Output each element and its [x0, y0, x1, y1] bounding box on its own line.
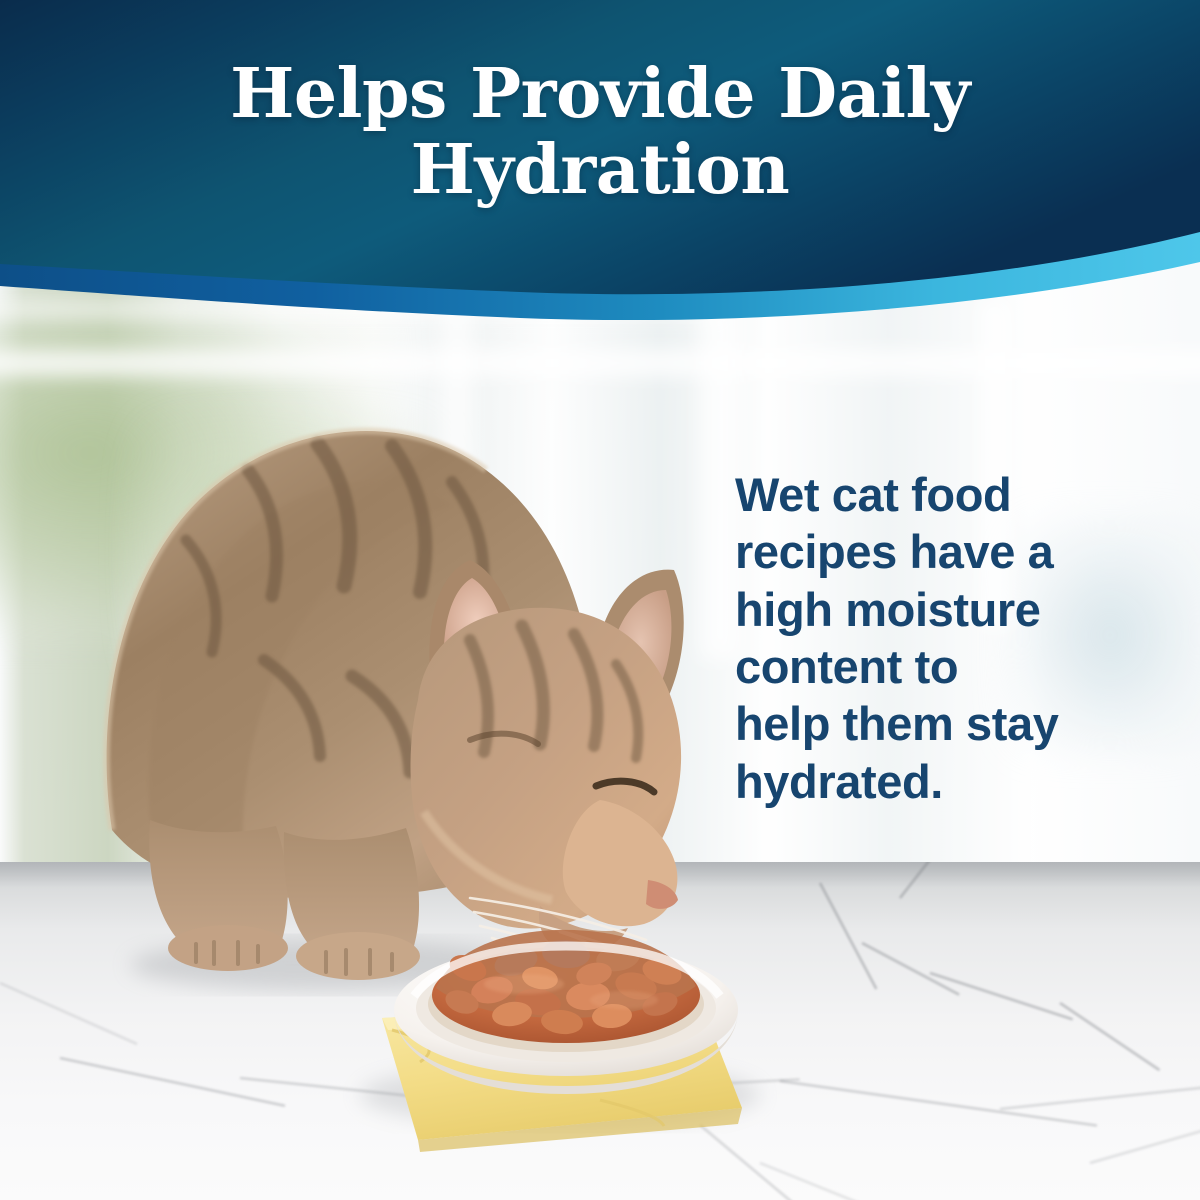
- window-greenery-secondary: [140, 420, 440, 680]
- body-copy: Wet cat food recipes have a high moistur…: [735, 466, 1135, 810]
- page-title-line-2: Hydration: [110, 132, 1090, 208]
- window-frame-bar: [0, 350, 1200, 376]
- body-copy-line: hydrated.: [735, 753, 1135, 810]
- page-title-line-1: Helps Provide Daily: [110, 56, 1090, 132]
- body-copy-line: Wet cat food: [735, 466, 1135, 523]
- page-title: Helps Provide Daily Hydration: [0, 56, 1200, 208]
- body-copy-line: high moisture: [735, 581, 1135, 638]
- hydration-promo-card: Helps Provide Daily Hydration Wet cat fo…: [0, 0, 1200, 1200]
- window-frame-post-center: [700, 300, 740, 660]
- body-copy-line: help them stay: [735, 695, 1135, 752]
- body-copy-line: content to: [735, 638, 1135, 695]
- header-banner: Helps Provide Daily Hydration: [0, 0, 1200, 320]
- window-frame-post-left: [440, 300, 474, 630]
- marble-countertop: [0, 862, 1200, 1200]
- body-copy-line: recipes have a: [735, 523, 1135, 580]
